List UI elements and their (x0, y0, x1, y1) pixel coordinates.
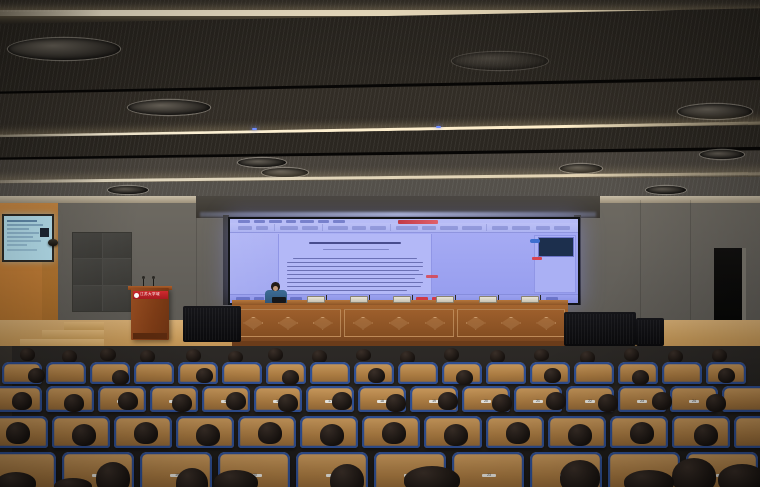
audience-head (64, 394, 84, 412)
audience-head (278, 394, 298, 412)
seat-number: 22 (585, 400, 595, 403)
seat[interactable] (134, 362, 174, 384)
nameplate (307, 296, 325, 303)
podium-base (133, 333, 167, 339)
audience-head (134, 422, 158, 444)
audience-head (12, 392, 32, 410)
seat[interactable] (310, 362, 350, 384)
audience-head (456, 370, 473, 385)
audience-head (630, 422, 654, 444)
ribbon-button[interactable] (512, 226, 530, 230)
document-text-line (287, 274, 423, 275)
laptop-icon (272, 297, 286, 303)
audience-head (282, 370, 299, 385)
audience-head (438, 392, 458, 410)
table-panel (457, 309, 565, 337)
ceiling-downlight-icon (128, 100, 210, 115)
audience-head (404, 466, 460, 487)
ribbon-button[interactable] (238, 226, 252, 230)
seat[interactable] (398, 362, 438, 384)
slide-thumbnail[interactable] (538, 237, 574, 257)
audience-head (320, 424, 344, 446)
title-bar-highlight (398, 220, 438, 224)
podium-microphone-icon (142, 276, 145, 279)
audience-head (96, 462, 130, 487)
audience-head (382, 422, 406, 444)
document-text-line (287, 262, 423, 263)
audience-head (718, 368, 735, 383)
document-page (278, 234, 432, 300)
seat[interactable]: 23 (452, 452, 524, 487)
seat-number: 20 (481, 400, 491, 403)
ribbon-button[interactable] (462, 226, 482, 230)
audience-head (368, 368, 385, 383)
audience-seating: 11 12 13 14 15 16 17 18 19 20 21 (0, 346, 760, 487)
diamond-carving-icon (536, 317, 556, 330)
seat[interactable] (722, 386, 760, 412)
table-microphone-icon (326, 295, 327, 300)
ribbon-tab[interactable] (238, 220, 250, 223)
nameplate (521, 296, 539, 303)
ceiling-downlight-icon (646, 186, 686, 194)
table-panel (235, 309, 341, 337)
ceiling-downlight-icon (262, 168, 308, 177)
seat[interactable] (46, 362, 86, 384)
audience-head (712, 349, 727, 362)
podium-banner: 江苏大学城 (133, 291, 168, 299)
floor-speaker (183, 306, 241, 342)
ribbon-tab[interactable] (300, 220, 314, 223)
audience-head (54, 478, 92, 487)
audience-head (718, 464, 760, 487)
audience-head (444, 424, 468, 446)
document-highlight (426, 275, 438, 278)
confidence-monitor (2, 214, 54, 262)
audience-head (268, 348, 283, 361)
ribbon-button[interactable] (422, 226, 436, 230)
diamond-carving-icon (389, 317, 409, 330)
audience-head (172, 394, 192, 412)
audience-head (332, 392, 352, 410)
ribbon-tab[interactable] (254, 220, 265, 223)
diamond-carving-icon (278, 317, 298, 330)
ribbon-button[interactable] (328, 226, 348, 230)
floor-speaker (564, 312, 636, 346)
ribbon-button[interactable] (256, 226, 268, 230)
audience-head (118, 392, 138, 410)
ceiling-downlight-icon (560, 164, 602, 173)
seat-number: 23 (637, 400, 647, 403)
audience-head (196, 368, 213, 383)
audience-head (560, 460, 600, 487)
audience-head (652, 392, 672, 410)
audience-head (28, 368, 45, 383)
document-subtitle-line (323, 249, 389, 250)
table-microphone-icon (412, 295, 413, 300)
podium-logo-icon (134, 293, 139, 298)
ribbon-tab[interactable] (286, 220, 296, 223)
diamond-carving-icon (501, 317, 521, 330)
ribbon-tab[interactable] (318, 220, 329, 223)
seat[interactable] (574, 362, 614, 384)
document-ribbon (230, 219, 578, 233)
audience-head (694, 424, 718, 446)
table-panel (344, 309, 454, 337)
audience-head (196, 424, 220, 446)
ceiling-camera-icon (48, 239, 58, 246)
document-title-line (309, 242, 401, 244)
diamond-carving-icon (243, 317, 263, 330)
seat[interactable] (662, 362, 702, 384)
ribbon-tab[interactable] (269, 220, 282, 223)
seat-number: 24 (689, 400, 699, 403)
audience-head (506, 422, 530, 444)
document-text-line (287, 278, 415, 279)
nameplate (479, 296, 497, 303)
audience-head (444, 348, 459, 361)
audience-head (100, 348, 116, 361)
ceiling-downlight-icon (452, 52, 548, 70)
document-text-line (287, 270, 419, 271)
table-microphone-icon (498, 295, 499, 300)
auditorium-photo: 江苏大学城 (0, 0, 760, 487)
seat[interactable] (222, 362, 262, 384)
podium-banner-text: 江苏大学城 (140, 293, 160, 297)
audience-head (624, 470, 674, 487)
nameplate (350, 296, 368, 303)
ribbon-button[interactable] (396, 226, 418, 230)
ribbon-button[interactable] (302, 226, 318, 230)
seat[interactable] (734, 416, 760, 448)
nameplate (436, 296, 454, 303)
document-text-line (287, 282, 423, 283)
head-table (232, 305, 568, 341)
audience-head (226, 392, 246, 410)
audience-head (356, 349, 371, 361)
diamond-carving-icon (425, 317, 445, 330)
ribbon-button[interactable] (352, 226, 366, 230)
ceiling-downlight-icon (8, 38, 120, 60)
table-microphone-icon (540, 295, 541, 300)
audience-head (112, 370, 129, 385)
doorway (714, 248, 744, 320)
audience-head (6, 422, 30, 444)
audience-head (624, 348, 639, 361)
ribbon-button[interactable] (440, 226, 458, 230)
table-microphone-icon (369, 295, 370, 300)
ceiling-downlight-icon (238, 158, 286, 167)
audience-head (632, 370, 649, 385)
door-jamb (742, 248, 746, 322)
table-microphone-icon (455, 295, 456, 300)
ceiling-downlight-icon (108, 186, 148, 194)
audience-head (546, 392, 566, 410)
audience-head (20, 348, 35, 361)
audience-head (258, 422, 282, 444)
nameplate (393, 296, 411, 303)
wall-seam (640, 200, 641, 320)
audience-head (214, 470, 258, 487)
diamond-carving-icon (313, 317, 333, 330)
seat-number: 21 (533, 400, 543, 403)
ribbon-button[interactable] (554, 226, 570, 230)
audience-head (386, 394, 406, 412)
document-text-line (287, 266, 423, 267)
wall-seam (196, 200, 197, 320)
audience-head (598, 394, 618, 412)
audience-head (72, 424, 96, 446)
pane-alert-badge (532, 257, 542, 260)
audience-head (492, 394, 512, 412)
audience-head (534, 349, 549, 361)
ribbon-button[interactable] (492, 226, 508, 230)
ceiling-indicator-icon (252, 128, 257, 130)
wall-window-grid (72, 232, 132, 312)
ribbon-button[interactable] (370, 226, 386, 230)
wall-seam (690, 200, 691, 320)
ceiling-downlight-icon (700, 150, 744, 159)
audience-head (568, 424, 592, 446)
ribbon-button[interactable] (280, 226, 298, 230)
floor-speaker (636, 318, 664, 346)
audience-head (186, 349, 201, 362)
ceiling-downlight-icon (678, 104, 752, 119)
audience-head (706, 394, 726, 412)
ribbon-button[interactable] (536, 226, 550, 230)
ceiling-indicator-icon (436, 126, 441, 128)
audience-head (544, 368, 561, 383)
ribbon-tab[interactable] (333, 220, 345, 223)
speaker-face (273, 286, 278, 291)
document-text-line (293, 258, 417, 259)
diamond-carving-icon (466, 317, 486, 330)
pane-button[interactable] (530, 239, 540, 243)
diamond-carving-icon (353, 317, 373, 330)
document-text-line (287, 286, 421, 287)
seat[interactable] (486, 362, 526, 384)
audience-head (672, 458, 716, 487)
document-text-line (287, 290, 407, 291)
seat-number: 23 (482, 474, 496, 477)
podium-microphone-icon (152, 276, 155, 279)
